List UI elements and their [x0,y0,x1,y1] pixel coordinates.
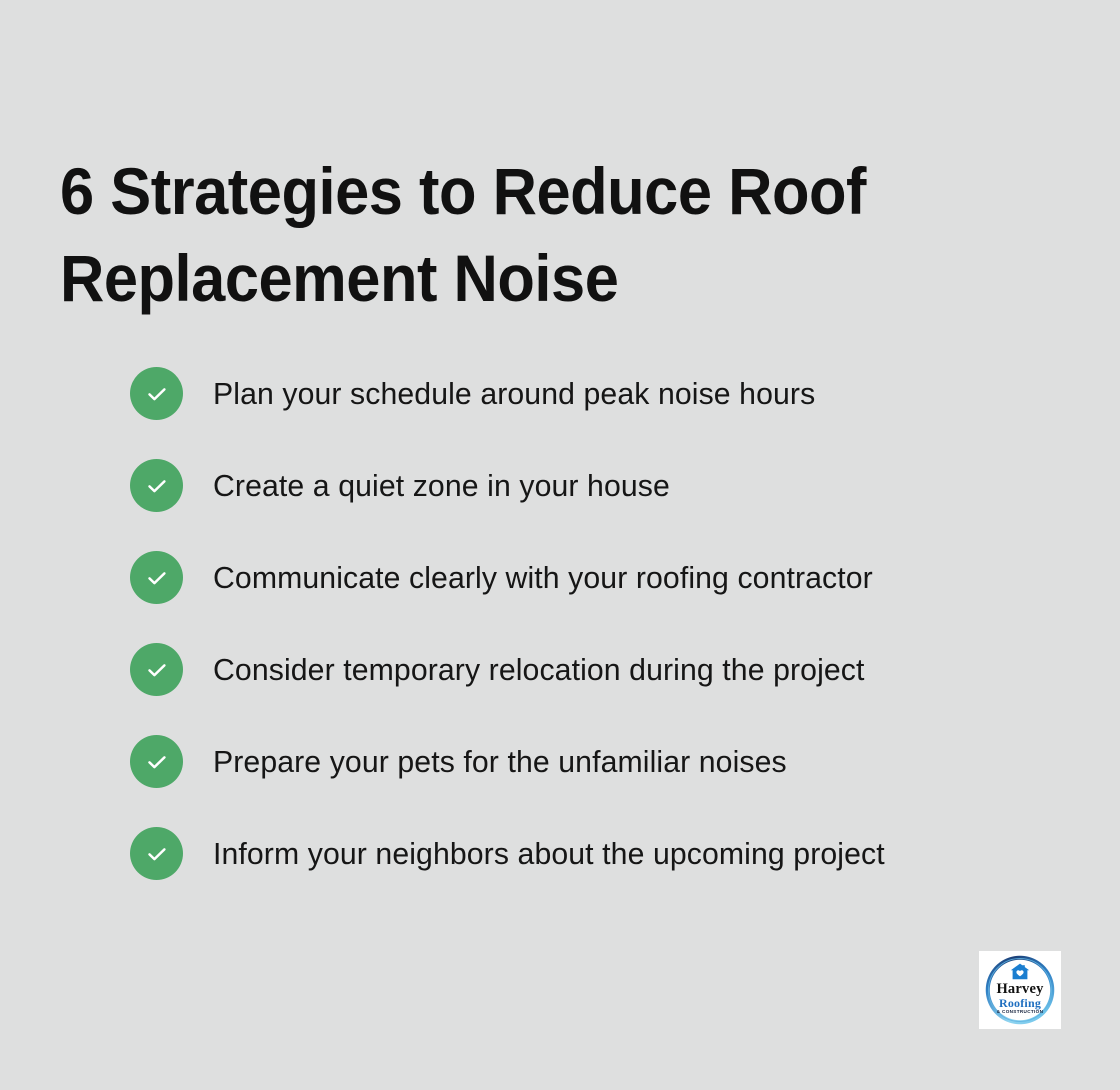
poster-canvas: 6 Strategies to Reduce Roof Replacement … [0,0,1120,1090]
check-icon [130,735,183,788]
check-icon [130,643,183,696]
check-icon [130,551,183,604]
logo-brand-line3: & CONSTRUCTION [984,1009,1056,1014]
list-item: Communicate clearly with your roofing co… [130,551,1070,643]
list-item: Prepare your pets for the unfamiliar noi… [130,735,1070,827]
page-title: 6 Strategies to Reduce Roof Replacement … [60,148,934,322]
strategy-checklist: Plan your schedule around peak noise hou… [130,367,1070,919]
list-item-label: Create a quiet zone in your house [213,459,1049,512]
company-logo: Harvey Roofing & CONSTRUCTION [979,951,1061,1029]
list-item-label: Inform your neighbors about the upcoming… [213,827,1049,880]
list-item-label: Prepare your pets for the unfamiliar noi… [213,735,1049,788]
list-item: Inform your neighbors about the upcoming… [130,827,1070,919]
list-item-label: Consider temporary relocation during the… [213,643,1049,696]
list-item: Consider temporary relocation during the… [130,643,1070,735]
list-item-label: Communicate clearly with your roofing co… [213,551,1049,604]
check-icon [130,459,183,512]
logo-inner: Harvey Roofing & CONSTRUCTION [984,954,1056,1026]
check-icon [130,827,183,880]
list-item: Create a quiet zone in your house [130,459,1070,551]
list-item: Plan your schedule around peak noise hou… [130,367,1070,459]
page-title-line-2: Replacement Noise [60,235,934,322]
page-title-line-1: 6 Strategies to Reduce Roof [60,148,934,235]
check-icon [130,367,183,420]
list-item-label: Plan your schedule around peak noise hou… [213,367,1049,420]
